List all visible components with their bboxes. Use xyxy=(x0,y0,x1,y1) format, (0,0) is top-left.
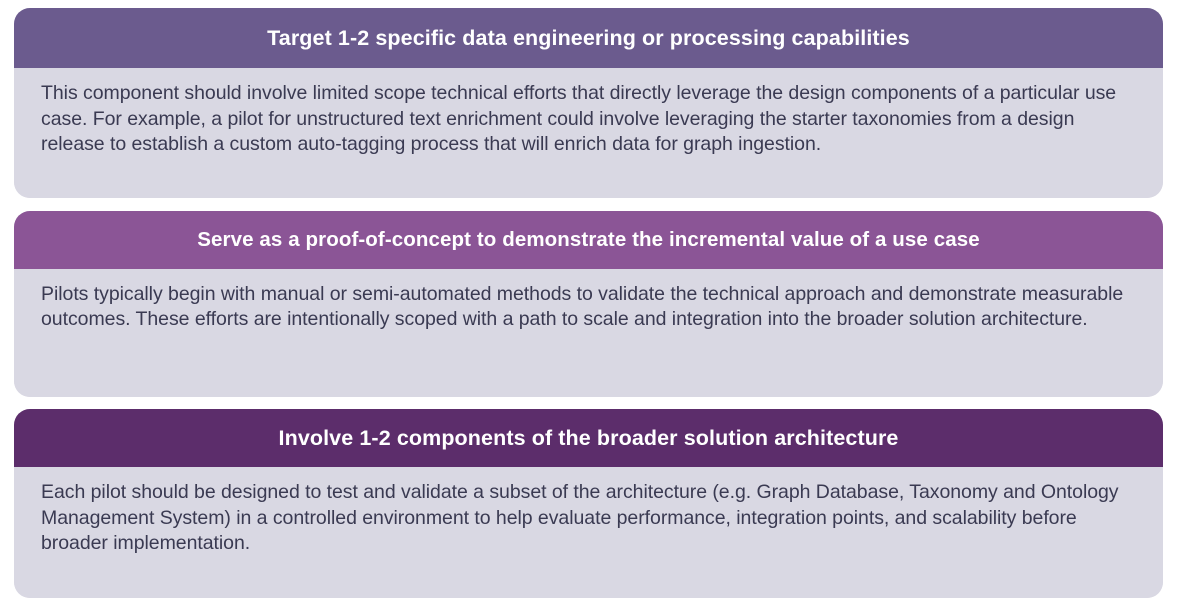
card-1-body: This component should involve limited sc… xyxy=(14,68,1163,198)
card-3-header: Involve 1-2 components of the broader so… xyxy=(14,409,1163,467)
pilot-characteristic-card-3: Involve 1-2 components of the broader so… xyxy=(14,409,1163,598)
pilot-characteristics-card-list: Target 1-2 specific data engineering or … xyxy=(0,0,1178,606)
card-1-description: This component should involve limited sc… xyxy=(41,81,1137,158)
card-2-title: Serve as a proof-of-concept to demonstra… xyxy=(197,228,979,252)
card-3-body: Each pilot should be designed to test an… xyxy=(14,467,1163,598)
card-1-title: Target 1-2 specific data engineering or … xyxy=(267,26,910,51)
card-2-description: Pilots typically begin with manual or se… xyxy=(41,282,1137,333)
pilot-characteristic-card-2: Serve as a proof-of-concept to demonstra… xyxy=(14,211,1163,398)
pilot-characteristic-card-1: Target 1-2 specific data engineering or … xyxy=(14,8,1163,198)
card-3-title: Involve 1-2 components of the broader so… xyxy=(279,426,899,451)
card-2-body: Pilots typically begin with manual or se… xyxy=(14,269,1163,398)
card-3-description: Each pilot should be designed to test an… xyxy=(41,480,1137,557)
card-1-header: Target 1-2 specific data engineering or … xyxy=(14,8,1163,68)
card-2-header: Serve as a proof-of-concept to demonstra… xyxy=(14,211,1163,269)
